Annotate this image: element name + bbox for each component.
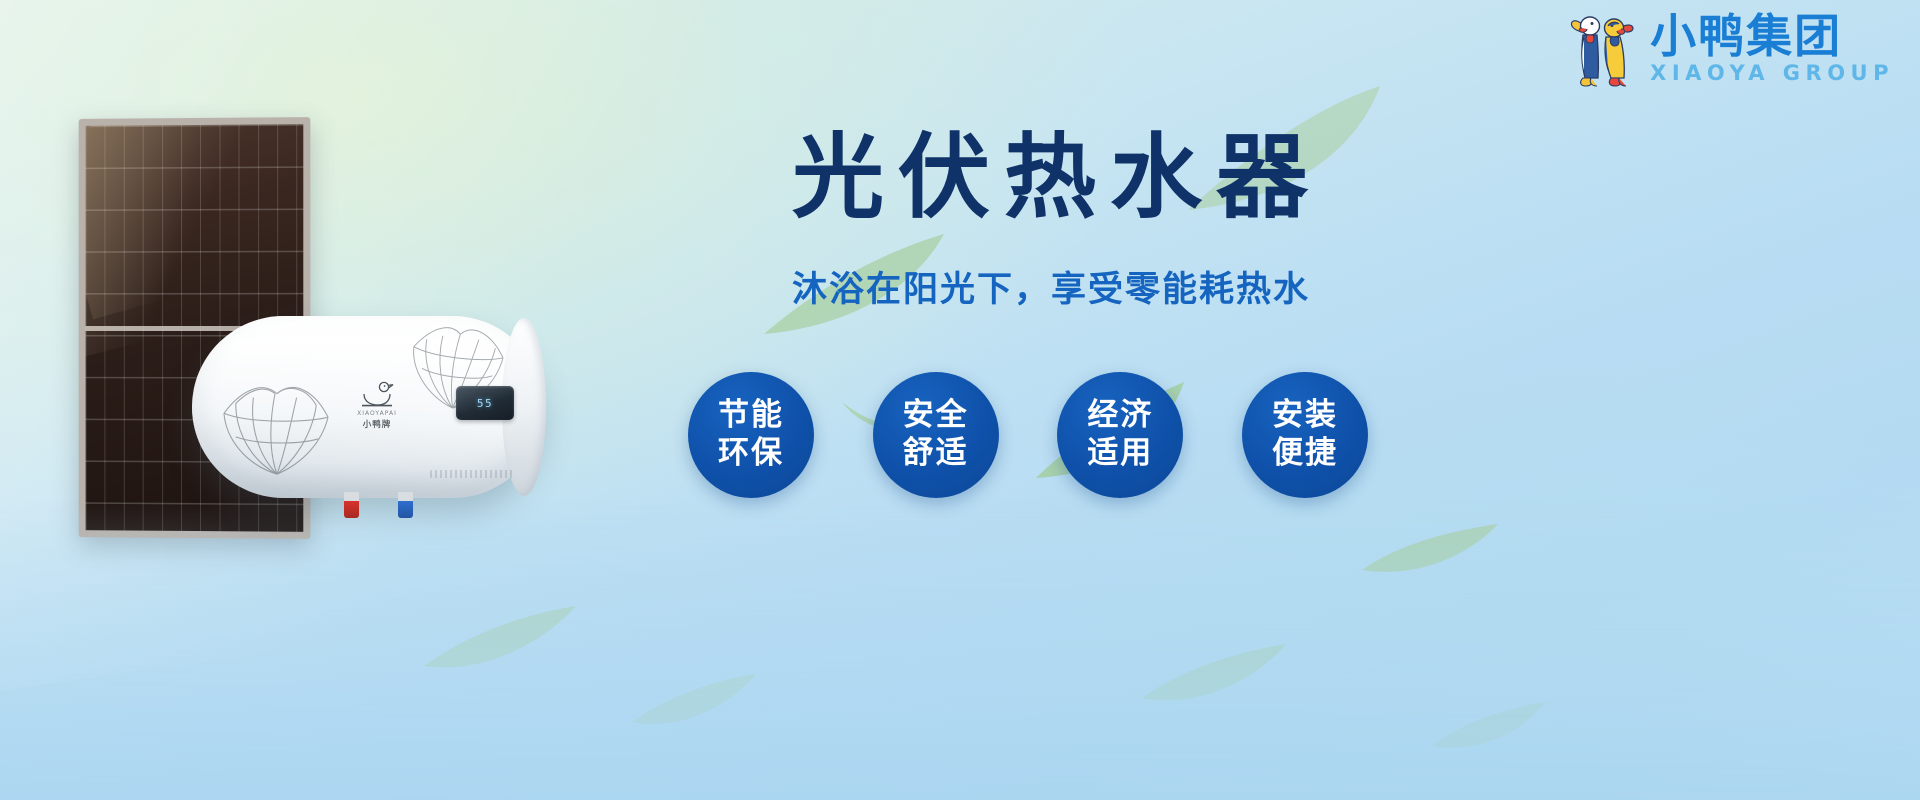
water-heater-product: XIAOYAPAI 小鸭牌 55 [192, 316, 562, 521]
cold-water-pipe [398, 492, 413, 518]
feature-badge-list: 节能 环保 安全 舒适 经济 适用 安装 便捷 [688, 372, 1368, 498]
leaf-decor-far-bottom [1430, 700, 1550, 758]
control-panel-display[interactable]: 55 [456, 386, 514, 420]
brand-name-cn: 小鸭集团 [1650, 13, 1842, 59]
headline-block: 光伏热水器 沐浴在阳光下，享受零能耗热水 [700, 128, 1400, 312]
badge-line2: 环保 [718, 435, 784, 473]
display-temperature-value: 55 [477, 397, 493, 410]
brand-logo[interactable]: 小鸭集团 XIAOYA GROUP [1568, 8, 1894, 88]
page-title: 光伏热水器 [700, 128, 1400, 227]
bottom-gradient-overlay [0, 500, 1920, 800]
duck-logo-icon [360, 378, 394, 408]
leaf-decor-bottom-right [1140, 640, 1290, 712]
brand-logo-text: 小鸭集团 XIAOYA GROUP [1650, 13, 1894, 84]
badge-line1: 经济 [1087, 397, 1153, 435]
leaf-decor-bottom-left [420, 600, 580, 680]
feature-badge-economical[interactable]: 经济 适用 [1057, 372, 1183, 498]
tank-brand-en: XIAOYAPAI [357, 410, 397, 417]
badge-line1: 节能 [718, 397, 784, 435]
tank-spec-label [430, 470, 514, 478]
promo-banner: XIAOYAPAI 小鸭牌 55 光伏热水器 沐浴在阳光下，享受零能耗热水 节能… [0, 0, 1920, 800]
badge-line2: 舒适 [903, 435, 969, 473]
page-subtitle: 沐浴在阳光下，享受零能耗热水 [700, 261, 1400, 312]
tank-brand-cn: 小鸭牌 [363, 418, 392, 430]
duck-mascot-icon [1568, 8, 1640, 88]
leaf-decor-between-badges [1360, 512, 1500, 582]
badge-line2: 便捷 [1272, 435, 1338, 473]
feature-badge-easy-install[interactable]: 安装 便捷 [1242, 372, 1368, 498]
feature-badge-safe-comfort[interactable]: 安全 舒适 [873, 372, 999, 498]
hot-water-pipe [344, 492, 359, 518]
lotus-pattern-icon [218, 374, 336, 482]
badge-line1: 安全 [903, 397, 969, 435]
badge-line2: 适用 [1087, 435, 1153, 473]
leaf-decor-bottom-mid [630, 670, 760, 734]
brand-name-en: XIAOYA GROUP [1650, 63, 1894, 84]
water-heater-tank: XIAOYAPAI 小鸭牌 55 [192, 316, 544, 498]
tank-brand-mark: XIAOYAPAI 小鸭牌 [344, 378, 410, 438]
feature-badge-energy-saving[interactable]: 节能 环保 [688, 372, 814, 498]
badge-line1: 安装 [1272, 397, 1338, 435]
